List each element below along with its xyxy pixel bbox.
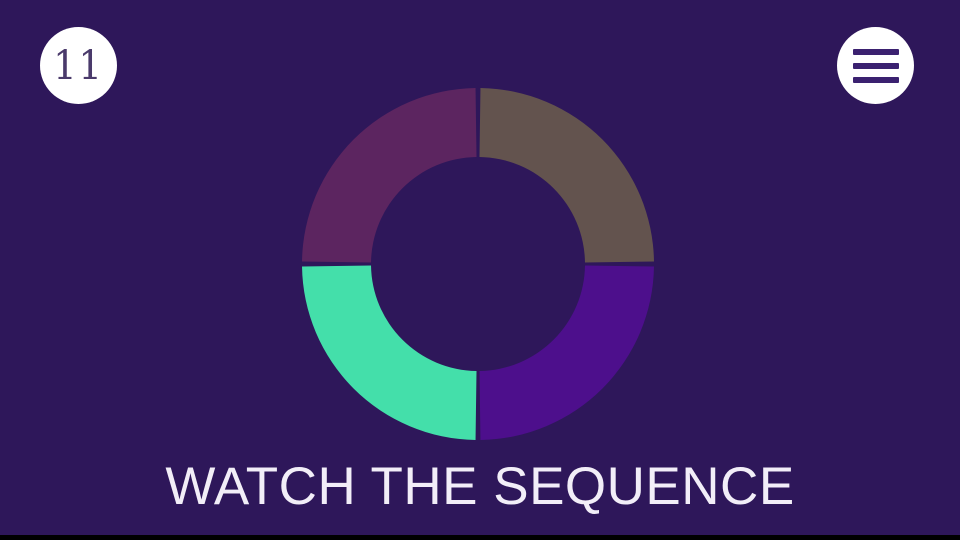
letterbox-bar-bottom [0, 535, 960, 540]
level-badge[interactable]: 11 [40, 27, 117, 104]
hamburger-bar-top [853, 49, 899, 55]
hamburger-bar-middle [853, 63, 899, 69]
sequence-ring [302, 88, 654, 440]
game-stage: 11 WATCH THE SEQUENCE [0, 0, 960, 540]
ring-segment-top-right-segment[interactable] [479, 88, 653, 262]
hamburger-bar-bottom [853, 77, 899, 83]
ring-segment-bottom-right-segment[interactable] [479, 265, 653, 439]
menu-button[interactable] [837, 27, 914, 104]
level-number: 11 [53, 46, 104, 86]
game-screen: 11 WATCH THE SEQUENCE [0, 0, 960, 535]
hamburger-menu-icon [853, 49, 899, 83]
ring-segment-top-left-segment[interactable] [302, 88, 476, 262]
ring-segment-bottom-left-segment[interactable] [302, 265, 476, 439]
instruction-text: WATCH THE SEQUENCE [0, 455, 960, 519]
